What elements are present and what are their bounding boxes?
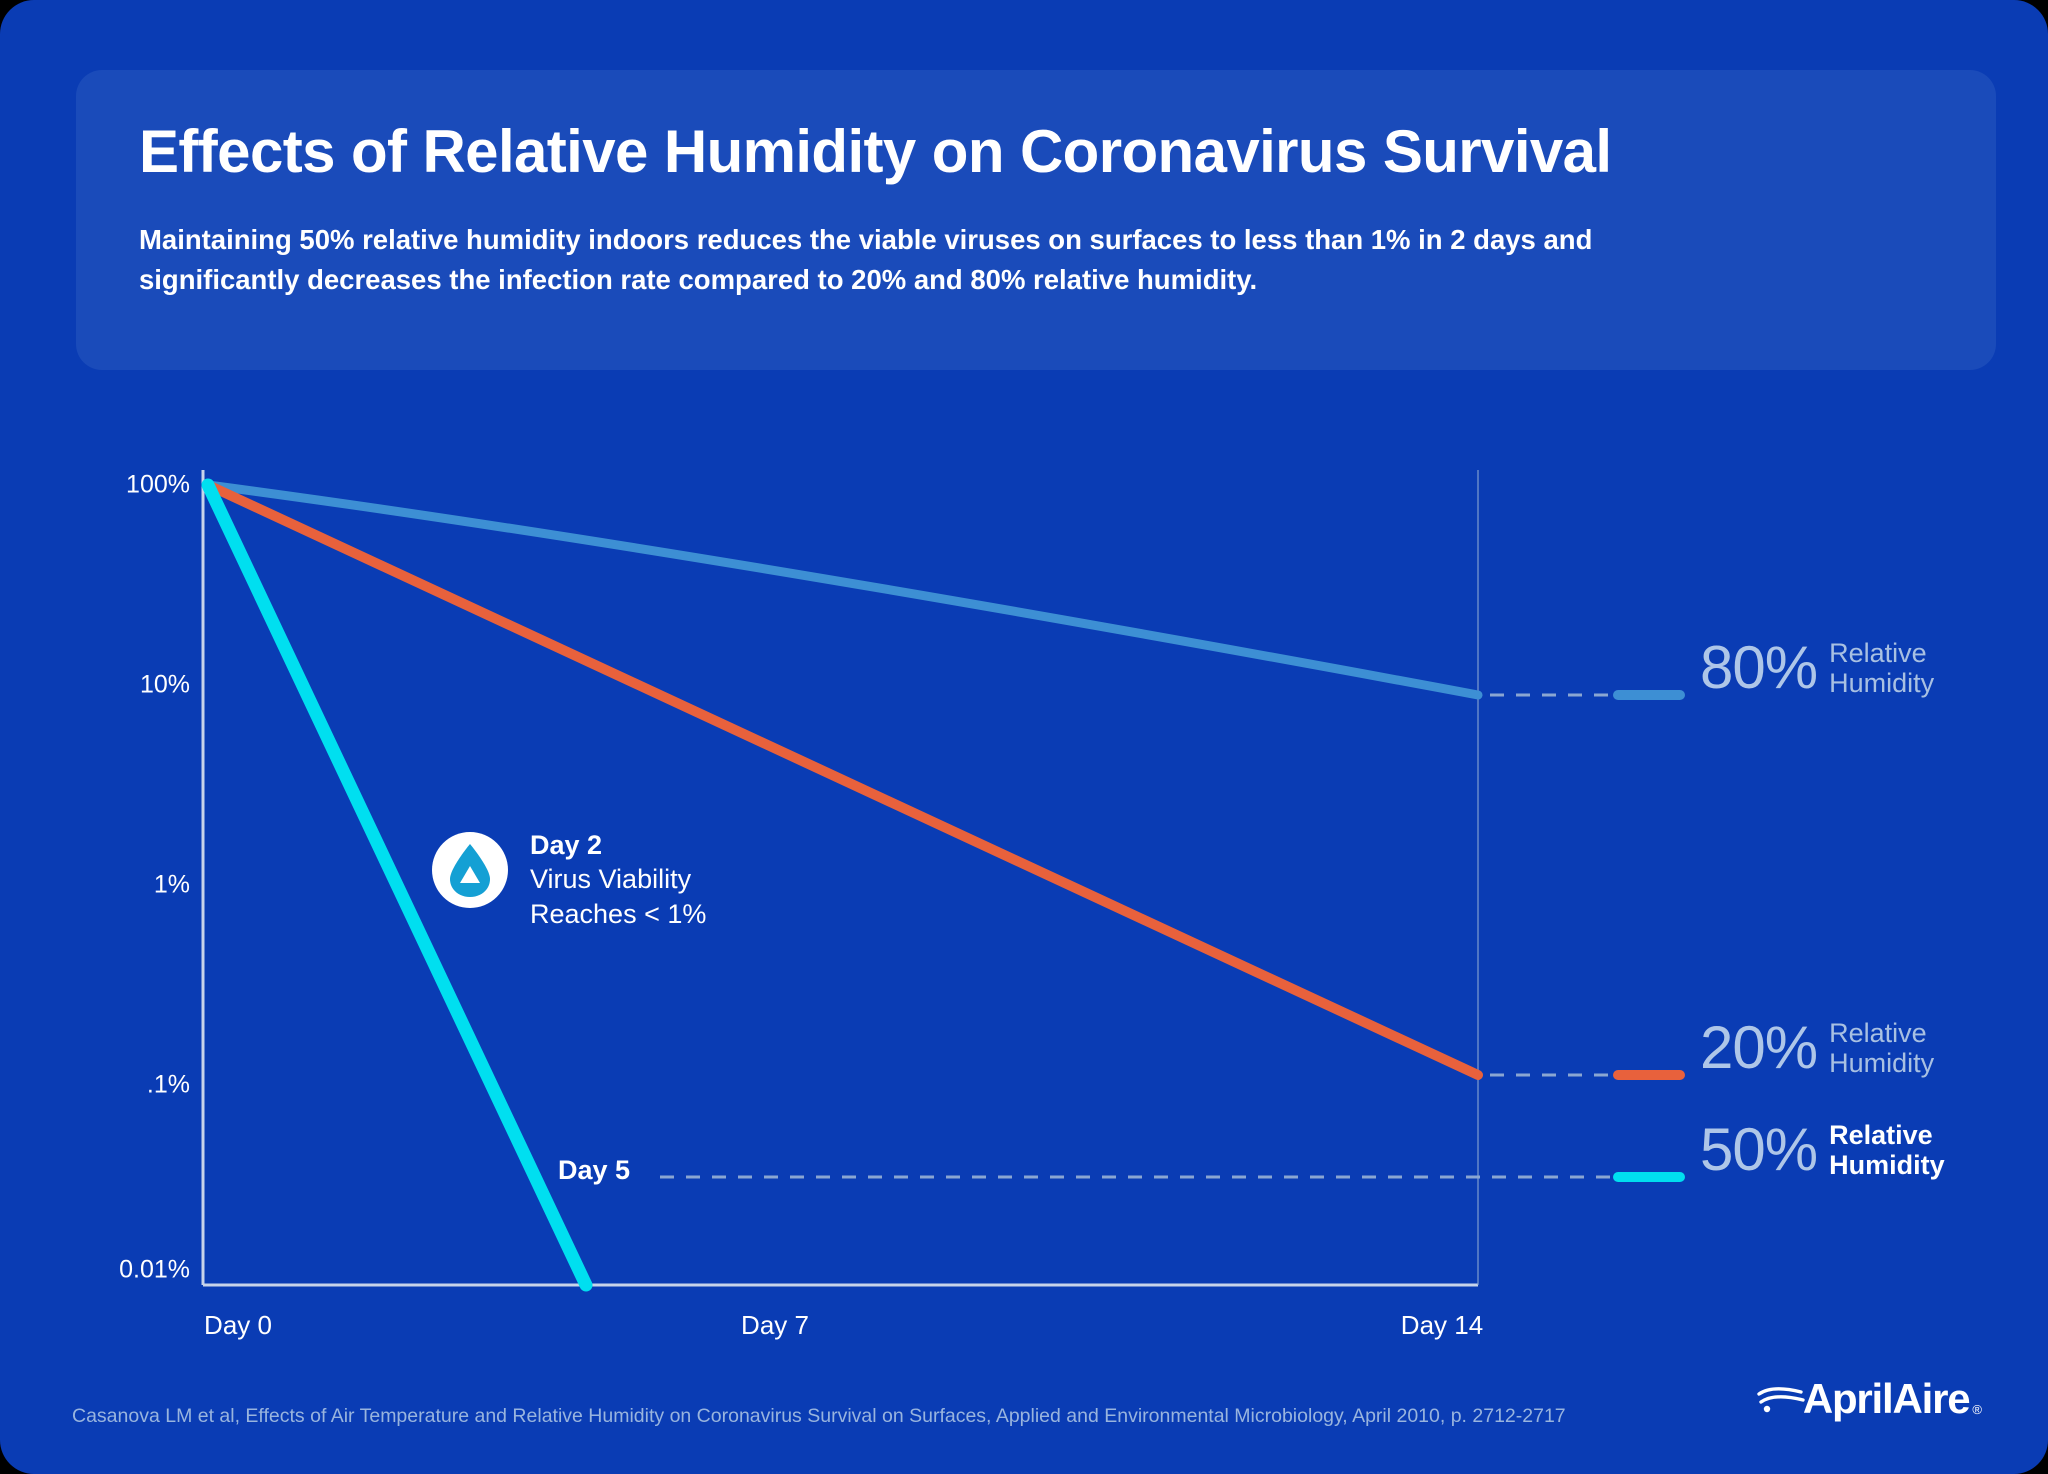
page-subtitle: Maintaining 50% relative humidity indoor…: [139, 220, 1669, 300]
x-tick-day-0: Day 0: [204, 1310, 272, 1341]
y-tick-001: 0.01%: [40, 1256, 190, 1285]
day2-line3: Reaches < 1%: [530, 897, 706, 931]
legend-label-80-line1: Relative: [1829, 638, 1927, 668]
day2-text-block: Day 2 Virus Viability Reaches < 1%: [530, 828, 706, 931]
legend-item-80[interactable]: 80% Relative Humidity: [1700, 638, 1934, 698]
aprilaire-logo[interactable]: AprilAire ®: [1757, 1378, 1982, 1420]
x-tick-day-14: Day 14: [1401, 1310, 1483, 1341]
droplet-glyph: [446, 842, 494, 898]
legend-item-20[interactable]: 20% Relative Humidity: [1700, 1018, 1934, 1078]
legend-label-50-line1: Relative: [1829, 1120, 1933, 1150]
legend-label-80-line2: Humidity: [1829, 668, 1934, 698]
series-line-20: [208, 485, 1478, 1075]
day2-annotation: Day 2 Virus Viability Reaches < 1%: [432, 828, 706, 931]
series-line-80: [208, 485, 1478, 695]
legend-percent-20: 20%: [1700, 1018, 1817, 1078]
legend-percent-50: 50%: [1700, 1120, 1817, 1180]
y-tick-100: 100%: [40, 471, 190, 500]
legend-label-20: Relative Humidity: [1829, 1018, 1934, 1078]
legend-label-50: Relative Humidity: [1829, 1120, 1945, 1180]
page-title: Effects of Relative Humidity on Coronavi…: [139, 120, 1929, 183]
wave-swoosh-icon: [1757, 1379, 1809, 1419]
y-tick-1: 1%: [40, 871, 190, 900]
legend-item-50[interactable]: 50% Relative Humidity: [1700, 1120, 1945, 1180]
y-tick-point1: .1%: [40, 1071, 190, 1100]
legend-label-20-line1: Relative: [1829, 1018, 1927, 1048]
chart-plot-area: [0, 430, 2048, 1330]
logo-wordmark: AprilAire: [1803, 1378, 1970, 1420]
x-tick-day-7: Day 7: [741, 1310, 809, 1341]
legend-percent-80: 80%: [1700, 638, 1817, 698]
legend-label-20-line2: Humidity: [1829, 1048, 1934, 1078]
logo-registered-mark: ®: [1972, 1402, 1982, 1417]
day2-line2: Virus Viability: [530, 862, 706, 896]
y-tick-10: 10%: [40, 671, 190, 700]
header-card: Effects of Relative Humidity on Coronavi…: [76, 70, 1996, 370]
source-citation: Casanova LM et al, Effects of Air Temper…: [72, 1405, 1566, 1428]
day2-title: Day 2: [530, 828, 706, 862]
legend-label-80: Relative Humidity: [1829, 638, 1934, 698]
day5-label: Day 5: [558, 1155, 630, 1186]
y-axis-ticks: 100% 10% 1% .1% 0.01%: [40, 430, 190, 1280]
legend-label-50-line2: Humidity: [1829, 1150, 1945, 1180]
chart-svg: [0, 430, 2048, 1330]
water-droplet-icon: [432, 832, 508, 908]
infographic-root: Effects of Relative Humidity on Coronavi…: [0, 0, 2048, 1474]
